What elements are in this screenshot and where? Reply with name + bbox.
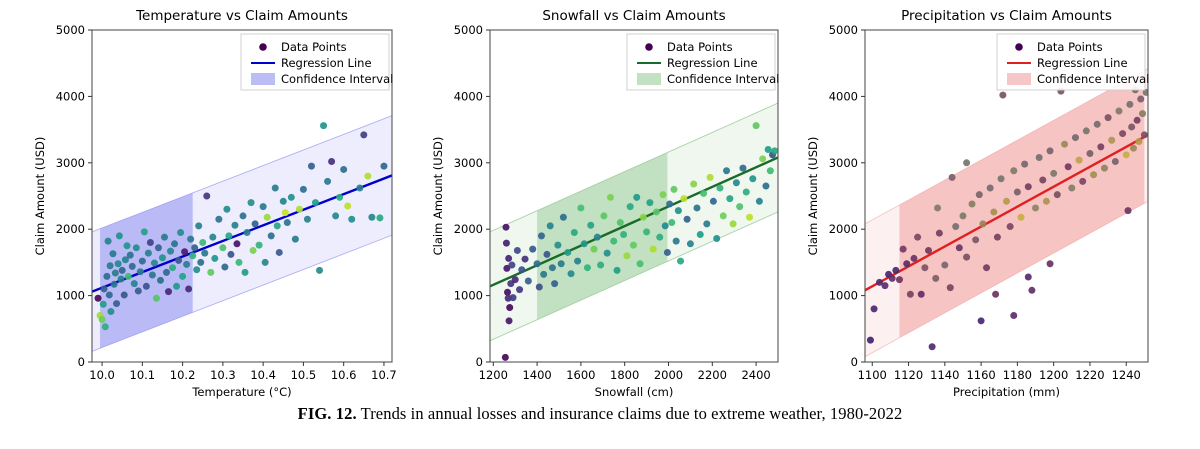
data-point (262, 259, 269, 266)
data-point (153, 295, 160, 302)
data-point (577, 204, 584, 211)
data-point (288, 194, 295, 201)
data-point (504, 289, 511, 296)
chart-title: Precipitation vs Claim Amounts (901, 8, 1112, 24)
data-point (716, 185, 723, 192)
data-point (159, 254, 166, 261)
data-point (525, 277, 532, 284)
data-point (1054, 191, 1061, 198)
y-tick-label: 2000 (56, 222, 85, 236)
data-point (558, 260, 565, 267)
data-point (529, 246, 536, 253)
data-point (1123, 151, 1130, 158)
legend-label-points: Data Points (1037, 40, 1103, 54)
data-point (516, 286, 523, 293)
data-point (187, 236, 194, 243)
data-point (296, 206, 303, 213)
data-point (185, 285, 192, 292)
data-point (733, 179, 740, 186)
data-point (637, 260, 644, 267)
data-point (105, 238, 112, 245)
data-point (161, 234, 168, 241)
data-point (356, 185, 363, 192)
y-axis: 010002000300040005000 (829, 23, 865, 369)
data-point (1079, 178, 1086, 185)
data-point (344, 202, 351, 209)
data-point (720, 212, 727, 219)
data-point (903, 260, 910, 267)
data-point (250, 247, 257, 254)
data-point (963, 159, 970, 166)
y-axis-label: Claim Amount (USD) (431, 137, 445, 256)
x-tick-label: 10.2 (170, 368, 196, 382)
data-point (235, 259, 242, 266)
data-point (710, 198, 717, 205)
data-point (1025, 274, 1032, 281)
data-point (1043, 198, 1050, 205)
data-point (248, 199, 255, 206)
data-point (284, 219, 291, 226)
chart-temperature: Temperature vs Claim Amounts010002000300… (0, 0, 430, 400)
y-axis: 010002000300040005000 (454, 23, 490, 369)
legend-marker-interval (1007, 73, 1031, 85)
data-point (976, 191, 983, 198)
chart-title: Snowfall vs Claim Amounts (542, 8, 725, 24)
data-point (147, 239, 154, 246)
data-point (956, 244, 963, 251)
data-point (221, 264, 228, 271)
data-point (972, 236, 979, 243)
data-point (107, 262, 114, 269)
chart-panel-temperature: Temperature vs Claim Amounts010002000300… (0, 0, 430, 400)
data-point (594, 234, 601, 241)
chart-precipitation: Precipitation vs Claim Amounts0100020003… (775, 0, 1200, 400)
x-tick-label: 2000 (654, 368, 683, 382)
data-point (610, 238, 617, 245)
data-point (102, 323, 109, 330)
legend-label-regression: Regression Line (1037, 56, 1128, 70)
y-axis-label: Claim Amount (USD) (806, 137, 820, 256)
data-point (998, 175, 1005, 182)
x-tick-label: 1120 (894, 368, 923, 382)
data-point (1003, 198, 1010, 205)
data-point (687, 240, 694, 247)
data-point (227, 251, 234, 258)
data-point (157, 277, 164, 284)
data-point (743, 189, 750, 196)
data-point (703, 220, 710, 227)
y-tick-label: 5000 (829, 23, 858, 37)
data-point (112, 270, 119, 277)
data-point (201, 250, 208, 257)
data-point (1025, 183, 1032, 190)
data-point (1065, 163, 1072, 170)
y-tick-label: 4000 (454, 89, 483, 103)
data-point (195, 222, 202, 229)
data-point (936, 230, 943, 237)
data-point (1137, 96, 1144, 103)
data-point (264, 214, 271, 221)
data-point (1072, 134, 1079, 141)
data-point (700, 190, 707, 197)
data-point (199, 239, 206, 246)
data-point (584, 264, 591, 271)
plot-area (92, 116, 392, 352)
data-point (614, 267, 621, 274)
data-point (502, 224, 509, 231)
y-tick-label: 0 (851, 355, 858, 369)
data-point (568, 270, 575, 277)
data-point (896, 276, 903, 283)
data-point (149, 272, 156, 279)
data-point (131, 280, 138, 287)
data-point (316, 267, 323, 274)
x-tick-label: 1240 (1112, 368, 1141, 382)
data-point (677, 258, 684, 265)
data-point (360, 131, 367, 138)
data-point (963, 254, 970, 261)
data-point (231, 222, 238, 229)
data-point (749, 175, 756, 182)
data-point (756, 198, 763, 205)
data-point (646, 199, 653, 206)
data-point (115, 260, 122, 267)
data-point (767, 167, 774, 174)
data-point (554, 242, 561, 249)
data-point (739, 165, 746, 172)
data-point (918, 291, 925, 298)
data-point (1119, 130, 1126, 137)
data-point (522, 256, 529, 263)
data-point (932, 275, 939, 282)
data-point (106, 291, 113, 298)
data-point (1126, 101, 1133, 108)
data-point (907, 291, 914, 298)
data-point (1086, 150, 1093, 157)
data-point (607, 194, 614, 201)
data-point (364, 173, 371, 180)
data-point (979, 220, 986, 227)
x-tick-label: 1220 (1075, 368, 1104, 382)
data-point (660, 191, 667, 198)
data-point (726, 195, 733, 202)
data-point (215, 216, 222, 223)
data-point (240, 212, 247, 219)
data-point (617, 219, 624, 226)
data-point (282, 209, 289, 216)
data-point (340, 166, 347, 173)
data-point (623, 252, 630, 259)
data-point (952, 223, 959, 230)
data-point (119, 267, 126, 274)
data-point (125, 273, 132, 280)
y-tick-label: 1000 (56, 289, 85, 303)
data-point (640, 214, 647, 221)
x-axis: 1200140016001800200022002400 (479, 362, 771, 382)
y-tick-label: 4000 (829, 89, 858, 103)
data-point (1047, 260, 1054, 267)
data-point (992, 291, 999, 298)
x-tick-label: 1600 (566, 368, 595, 382)
data-point (177, 229, 184, 236)
data-point (151, 260, 158, 267)
data-point (292, 236, 299, 243)
plot-area (865, 69, 1150, 357)
data-point (600, 212, 607, 219)
data-point (233, 240, 240, 247)
data-point (670, 186, 677, 193)
y-tick-label: 1000 (829, 289, 858, 303)
data-point (538, 232, 545, 239)
figure-caption-text: Trends in annual losses and insurance cl… (357, 404, 903, 423)
data-point (1010, 167, 1017, 174)
data-point (690, 181, 697, 188)
data-point (280, 198, 287, 205)
data-point (534, 260, 541, 267)
legend-marker-interval (251, 73, 275, 85)
data-point (549, 264, 556, 271)
data-point (143, 283, 150, 290)
data-point (124, 242, 131, 249)
data-point (571, 229, 578, 236)
legend-marker-points (259, 43, 267, 51)
data-point (675, 207, 682, 214)
y-tick-label: 4000 (56, 89, 85, 103)
legend-marker-points (1015, 43, 1023, 51)
data-point (173, 283, 180, 290)
data-point (1021, 161, 1028, 168)
data-point (368, 214, 375, 221)
data-point (165, 288, 172, 295)
data-point (506, 304, 513, 311)
chart-legend: Data PointsRegression LineConfidence Int… (241, 34, 393, 90)
data-point (514, 247, 521, 254)
y-axis: 010002000300040005000 (56, 23, 92, 369)
x-tick-label: 1140 (930, 368, 959, 382)
data-point (746, 214, 753, 221)
data-point (179, 273, 186, 280)
chart-snowfall: Snowfall vs Claim Amounts010002000300040… (400, 0, 800, 400)
data-point (653, 208, 660, 215)
x-tick-label: 1800 (610, 368, 639, 382)
y-tick-label: 3000 (829, 156, 858, 170)
plot-area (490, 103, 778, 361)
data-point (591, 246, 598, 253)
y-tick-label: 3000 (56, 156, 85, 170)
data-point (207, 269, 214, 276)
data-point (117, 276, 124, 283)
data-point (1141, 131, 1148, 138)
data-point (1115, 108, 1122, 115)
data-point (929, 343, 936, 350)
x-tick-label: 10.5 (291, 368, 317, 382)
legend-label-points: Data Points (667, 40, 733, 54)
data-point (941, 262, 948, 269)
data-point (197, 259, 204, 266)
data-point (564, 249, 571, 256)
data-point (242, 269, 249, 276)
data-point (949, 174, 956, 181)
data-point (171, 240, 178, 247)
data-point (225, 232, 232, 239)
chart-title: Temperature vs Claim Amounts (135, 8, 348, 24)
data-point (304, 216, 311, 223)
data-point (597, 262, 604, 269)
data-point (505, 255, 512, 262)
data-point (518, 266, 525, 273)
x-tick-label: 1200 (479, 368, 508, 382)
data-point (1039, 177, 1046, 184)
data-point (934, 204, 941, 211)
data-point (921, 264, 928, 271)
data-point (510, 294, 517, 301)
data-point (983, 264, 990, 271)
data-point (211, 255, 218, 262)
data-point (713, 235, 720, 242)
data-point (574, 258, 581, 265)
data-point (762, 183, 769, 190)
y-axis-label: Claim Amount (USD) (33, 137, 47, 256)
data-point (587, 222, 594, 229)
data-point (910, 255, 917, 262)
data-point (673, 238, 680, 245)
x-tick-label: 10.7 (371, 368, 397, 382)
data-point (1097, 143, 1104, 150)
data-point (730, 220, 737, 227)
data-point (1112, 158, 1119, 165)
data-point (274, 222, 281, 229)
data-point (101, 285, 108, 292)
data-point (113, 300, 120, 307)
data-point (203, 193, 210, 200)
data-point (1068, 185, 1075, 192)
x-tick-label: 1100 (858, 368, 887, 382)
data-point (183, 261, 190, 268)
data-point (1007, 223, 1014, 230)
data-point (260, 203, 267, 210)
data-point (999, 92, 1006, 99)
data-point (1108, 137, 1115, 144)
data-point (503, 240, 510, 247)
data-point (627, 203, 634, 210)
y-tick-label: 5000 (56, 23, 85, 37)
data-point (111, 281, 118, 288)
data-point (630, 242, 637, 249)
x-axis-label: Temperature (°C) (191, 385, 291, 399)
data-point (604, 250, 611, 257)
data-point (1139, 110, 1146, 117)
data-point (139, 258, 146, 265)
data-point (99, 316, 106, 323)
data-point (656, 234, 663, 241)
data-point (723, 167, 730, 174)
legend-label-regression: Regression Line (281, 56, 372, 70)
data-point (1050, 170, 1057, 177)
data-point (947, 284, 954, 291)
data-point (892, 267, 899, 274)
data-point (109, 250, 116, 257)
data-point (189, 252, 196, 259)
data-point (328, 158, 335, 165)
data-point (1010, 312, 1017, 319)
x-tick-label: 10.0 (89, 368, 115, 382)
data-point (666, 200, 673, 207)
data-point (662, 222, 669, 229)
figure-caption: FIG. 12. Trends in annual losses and ins… (0, 404, 1200, 424)
data-point (107, 308, 114, 315)
legend-label-interval: Confidence Interval (667, 72, 779, 86)
data-point (116, 232, 123, 239)
data-point (191, 244, 198, 251)
x-tick-label: 1180 (1003, 368, 1032, 382)
data-point (312, 199, 319, 206)
data-point (348, 216, 355, 223)
data-point (95, 295, 102, 302)
data-point (308, 163, 315, 170)
data-point (889, 275, 896, 282)
data-point (324, 178, 331, 185)
data-point (252, 220, 259, 227)
x-tick-label: 1160 (966, 368, 995, 382)
y-tick-label: 5000 (454, 23, 483, 37)
legend-label-regression: Regression Line (667, 56, 758, 70)
legend-label-points: Data Points (281, 40, 347, 54)
data-point (169, 264, 176, 271)
data-point (759, 155, 766, 162)
data-point (1130, 145, 1137, 152)
x-axis-label: Snowfall (cm) (595, 385, 674, 399)
data-point (925, 247, 932, 254)
x-tick-label: 10.1 (130, 368, 156, 382)
data-point (1094, 121, 1101, 128)
x-tick-label: 1200 (1039, 368, 1068, 382)
data-point (129, 263, 136, 270)
data-point (959, 212, 966, 219)
data-point (1028, 287, 1035, 294)
data-point (990, 208, 997, 215)
data-point (135, 287, 142, 294)
data-point (376, 214, 383, 221)
data-point (978, 317, 985, 324)
data-point (697, 231, 704, 238)
data-point (103, 273, 110, 280)
data-point (133, 244, 140, 251)
figure: Temperature vs Claim Amounts010002000300… (0, 0, 1200, 449)
data-point (707, 174, 714, 181)
data-point (155, 244, 162, 251)
data-point (1090, 171, 1097, 178)
data-point (193, 266, 200, 273)
data-point (684, 216, 691, 223)
data-point (502, 354, 509, 361)
chart-legend: Data PointsRegression LineConfidence Int… (627, 34, 779, 90)
x-tick-label: 10.6 (331, 368, 357, 382)
legend-label-interval: Confidence Interval (281, 72, 393, 86)
data-point (332, 212, 339, 219)
data-point (540, 271, 547, 278)
x-axis-label: Precipitation (mm) (953, 385, 1060, 399)
data-point (1061, 141, 1068, 148)
y-tick-label: 2000 (454, 222, 483, 236)
data-point (137, 268, 144, 275)
x-axis: 10.010.110.210.310.410.510.610.7 (89, 362, 396, 382)
data-point (100, 301, 107, 308)
y-tick-label: 1000 (454, 289, 483, 303)
data-point (380, 163, 387, 170)
data-point (650, 246, 657, 253)
data-point (581, 240, 588, 247)
data-point (121, 291, 128, 298)
